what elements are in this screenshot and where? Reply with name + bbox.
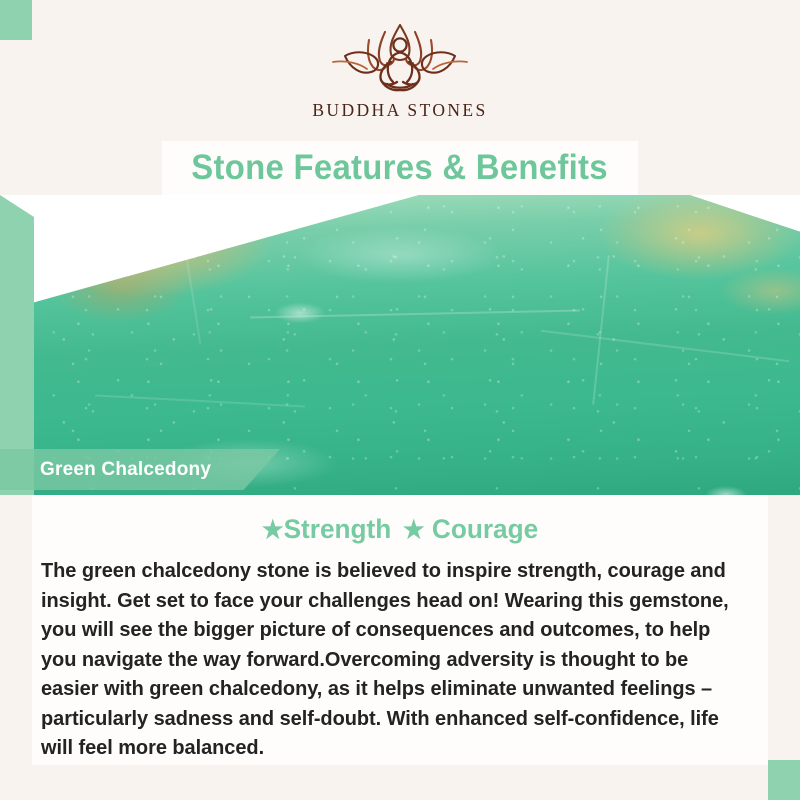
stone-name-label: Green Chalcedony <box>40 459 211 481</box>
page-title: Stone Features & Benefits <box>192 148 609 188</box>
brand-logo-block: BUDDHA STONES <box>0 18 800 140</box>
lotus-meditation-icon <box>325 18 475 96</box>
star-icon: ★ <box>403 516 425 544</box>
poster-root: BUDDHA STONES Stone Features & Benefits … <box>0 0 800 800</box>
content-panel: ★Strength★ Courage The green chalcedony … <box>32 495 768 765</box>
keyword-row: ★Strength★ Courage <box>43 514 757 545</box>
title-banner: Stone Features & Benefits <box>162 141 638 195</box>
keyword-strength: Strength <box>284 514 392 544</box>
keyword-courage: Courage <box>432 514 538 544</box>
star-icon: ★ <box>262 516 284 544</box>
body-paragraph: The green chalcedony stone is believed t… <box>41 557 749 764</box>
stone-name-band: Green Chalcedony <box>0 449 280 490</box>
brand-name: BUDDHA STONES <box>312 100 487 121</box>
